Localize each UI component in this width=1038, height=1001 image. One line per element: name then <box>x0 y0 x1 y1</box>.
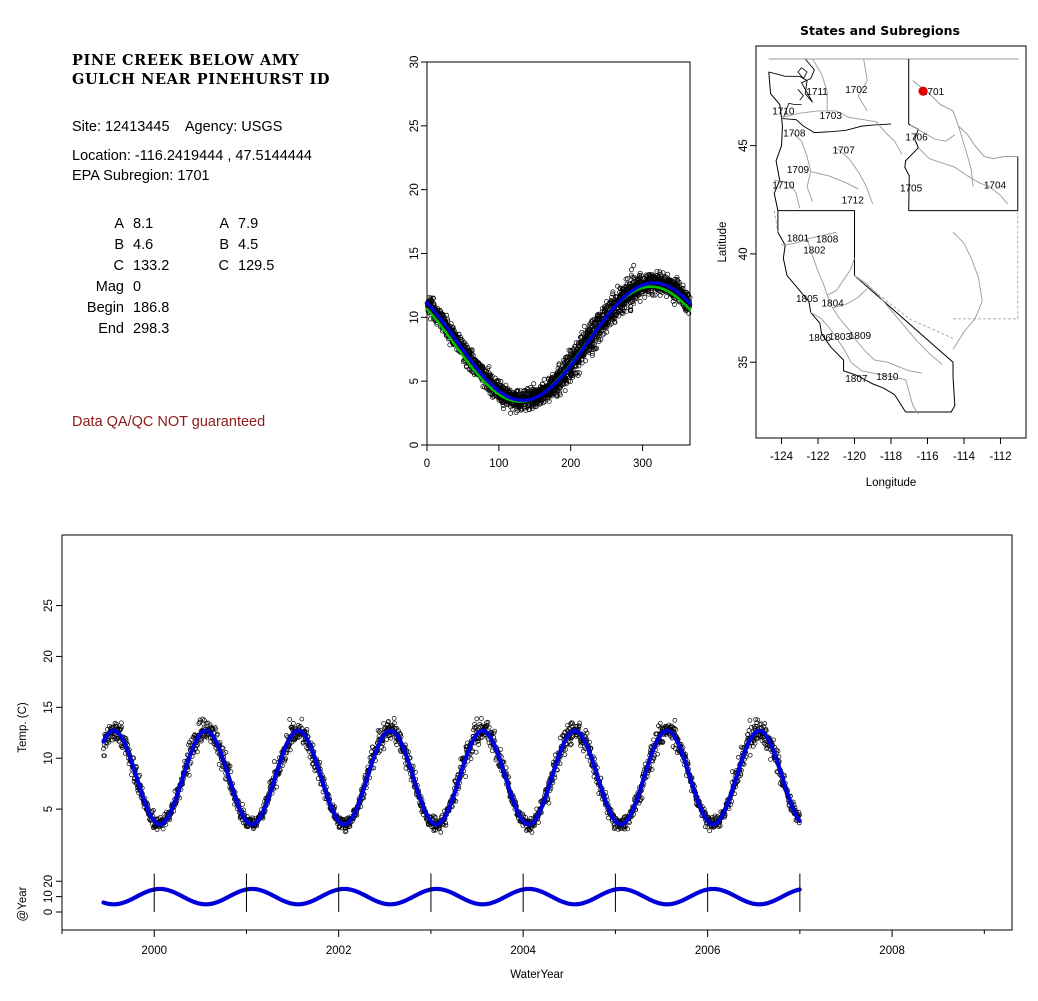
map-boundary-line <box>855 276 943 365</box>
map-subregion-label: 1705 <box>900 184 923 195</box>
param-label-b2: B <box>195 236 238 257</box>
map-subregion-label: 1804 <box>821 298 844 309</box>
ts-y-tick-label: 5 <box>43 806 55 812</box>
data-point <box>748 753 752 757</box>
data-point <box>632 263 636 267</box>
map-y-tick-label: 45 <box>738 139 750 152</box>
site-agency-line: Site: 12413445 Agency: USGS <box>72 118 282 136</box>
map-x-tick-label: -124 <box>770 451 794 463</box>
map-boundary-line <box>918 148 1007 204</box>
data-point <box>629 268 633 272</box>
param-label-end: End <box>62 320 133 341</box>
data-point <box>475 717 479 721</box>
map-boundary-line <box>876 122 902 154</box>
ts-x-tick-label: 2002 <box>326 945 352 957</box>
map-subregion-label: 1708 <box>783 128 806 139</box>
map-boundary-line <box>906 377 955 412</box>
param-value-c2: 129.5 <box>238 257 274 278</box>
map-boundary-line <box>811 172 858 189</box>
states-subregions-map-panel: States and Subregions -124-122-120-118-1… <box>720 10 1038 510</box>
ts-y-tick-label: 15 <box>43 701 55 714</box>
y-axis-tick-label: 10 <box>409 311 421 324</box>
param-value-b1: 4.6 <box>133 236 195 257</box>
map-subregion-label: 1802 <box>803 245 826 256</box>
param-value-a2: 7.9 <box>238 215 274 236</box>
data-point <box>474 750 478 754</box>
param-label-a1: A <box>62 215 133 236</box>
ts-y-tick-label: 25 <box>43 599 55 612</box>
y-axis-tick-label: 30 <box>409 56 421 69</box>
qa-warning-text: Data QA/QC NOT guaranteed <box>72 414 265 430</box>
x-axis-tick-label: 300 <box>633 458 652 470</box>
data-point <box>119 721 123 725</box>
data-point <box>300 717 304 721</box>
map-x-tick-label: -114 <box>953 451 976 463</box>
param-value-b2: 4.5 <box>238 236 274 257</box>
map-subregion-label: 1710 <box>772 107 795 118</box>
x-axis-tick-label: 200 <box>561 458 580 470</box>
map-subregion-label: 1712 <box>842 195 865 206</box>
ts-x-tick-label: 2006 <box>695 945 721 957</box>
data-point <box>563 753 567 757</box>
map-boundary-line <box>798 89 803 100</box>
param-value-begin: 186.8 <box>133 299 195 320</box>
y-axis-tick-label: 20 <box>409 183 421 196</box>
data-point <box>272 760 276 764</box>
map-boundary-line <box>909 59 910 125</box>
param-value-end: 298.3 <box>133 320 195 341</box>
data-point <box>382 721 386 725</box>
table-row: End 298.3 <box>62 320 274 341</box>
ts-x-axis-title: WaterYear <box>510 969 564 981</box>
data-point <box>569 742 573 746</box>
data-point <box>275 785 279 789</box>
data-point <box>673 718 677 722</box>
data-point <box>288 717 292 721</box>
table-row: Begin 186.8 <box>62 299 274 320</box>
map-x-tick-label: -118 <box>880 451 902 463</box>
table-row: C 133.2 C 129.5 <box>62 257 274 278</box>
data-point <box>625 277 629 281</box>
param-value-a1: 8.1 <box>133 215 195 236</box>
data-point <box>655 269 659 273</box>
ts-y-axis-title: Temp. (C) <box>17 702 29 753</box>
param-label-begin: Begin <box>62 299 133 320</box>
data-point <box>769 757 773 761</box>
table-row: Mag 0 <box>62 278 274 299</box>
map-x-tick-label: -116 <box>916 451 938 463</box>
data-point <box>439 830 443 834</box>
data-point <box>291 721 295 725</box>
data-point <box>708 829 712 833</box>
map-title: States and Subregions <box>800 23 960 38</box>
data-point <box>578 721 582 725</box>
map-x-tick-label: -120 <box>843 451 866 463</box>
inset-annual-cycle-line <box>104 889 800 904</box>
data-point <box>479 717 483 721</box>
map-boundary-line <box>953 232 982 349</box>
map-boundary-line <box>798 68 807 79</box>
map-boundary-line <box>827 258 854 295</box>
data-point <box>501 407 505 411</box>
param-label-a2: A <box>195 215 238 236</box>
map-x-tick-label: -122 <box>807 451 830 463</box>
map-boundary-line <box>855 276 954 339</box>
map-subregion-label: 1807 <box>845 374 868 385</box>
param-label-c2: C <box>195 257 238 278</box>
map-subregion-label: 1810 <box>876 372 899 383</box>
map-subregion-label: 1703 <box>820 111 843 122</box>
param-label-c1: C <box>62 257 133 278</box>
map-boundary-line <box>774 211 778 233</box>
table-row: A 8.1 A 7.9 <box>62 215 274 236</box>
site-location-marker <box>918 87 927 96</box>
data-point <box>582 324 586 328</box>
inset-y-tick-label: 10 <box>43 890 55 903</box>
map-subregion-label: 1711 <box>806 87 828 98</box>
data-point <box>643 295 647 299</box>
timeseries-plot-svg: 510152025Temp. (C)01020@Year200020022004… <box>0 520 1038 1001</box>
param-label-b1: B <box>62 236 133 257</box>
map-boundary-line <box>906 380 919 415</box>
map-boundary-line <box>813 59 828 111</box>
fit-parameters-table: A 8.1 A 7.9 B 4.6 B 4.5 C 133.2 C 129.5 … <box>62 215 274 341</box>
map-subregion-label: 1808 <box>816 234 839 245</box>
ts-fit-line <box>104 731 800 825</box>
inset-y-tick-label: 20 <box>43 875 55 888</box>
ts-data-points <box>102 716 802 834</box>
inset-y-tick-label: 0 <box>43 909 55 915</box>
seasonal-plot-svg: 0510152025300100200300 <box>385 40 705 480</box>
data-point <box>129 773 133 777</box>
map-subregion-label: 1707 <box>832 146 855 157</box>
map-y-tick-label: 40 <box>738 248 750 261</box>
data-point <box>102 747 106 751</box>
param-value-mag: 0 <box>133 278 195 299</box>
map-subregion-label: 1706 <box>905 133 928 144</box>
map-subregion-label: 1704 <box>984 180 1007 191</box>
data-point <box>288 748 292 752</box>
epa-subregion-line: EPA Subregion: 1701 <box>72 167 210 185</box>
seasonal-scatter-panel: 0510152025300100200300 <box>385 40 705 480</box>
x-axis-tick-label: 100 <box>489 458 508 470</box>
site-info-panel: PINE CREEK BELOW AMY GULCH NEAR PINEHURS… <box>0 0 390 470</box>
map-svg: -124-122-120-118-116-114-112354045Longit… <box>720 10 1038 510</box>
map-subregion-label: 1702 <box>845 85 868 96</box>
map-x-tick-label: -112 <box>989 451 1011 463</box>
data-point <box>563 389 567 393</box>
data-point <box>748 718 752 722</box>
map-y-tick-label: 35 <box>738 356 750 369</box>
map-y-axis-title: Latitude <box>717 222 729 263</box>
data-point <box>392 716 396 720</box>
data-point <box>464 775 468 779</box>
data-point <box>508 411 512 415</box>
param-value-c1: 133.2 <box>133 257 195 278</box>
data-point <box>220 767 224 771</box>
map-subregion-label: 1809 <box>849 331 872 342</box>
inset-y-axis-title: @Year <box>17 886 29 921</box>
ts-x-tick-label: 2004 <box>510 945 536 957</box>
ts-x-tick-label: 2008 <box>879 945 905 957</box>
ts-y-tick-label: 10 <box>43 752 55 765</box>
location-line: Location: -116.2419444 , 47.5144444 <box>72 147 312 165</box>
param-label-mag: Mag <box>62 278 133 299</box>
y-axis-tick-label: 25 <box>409 119 421 132</box>
y-axis-tick-label: 5 <box>409 378 421 384</box>
data-point <box>240 802 244 806</box>
data-point <box>542 377 546 381</box>
data-point <box>469 757 473 761</box>
y-axis-tick-label: 0 <box>409 442 421 448</box>
table-row: B 4.6 B 4.5 <box>62 236 274 257</box>
y-axis-tick-label: 15 <box>409 247 421 260</box>
ts-x-tick-label: 2000 <box>141 945 167 957</box>
map-subregion-label: 1805 <box>796 294 819 305</box>
page-title: PINE CREEK BELOW AMY GULCH NEAR PINEHURS… <box>72 51 372 89</box>
data-point <box>532 382 536 386</box>
map-x-axis-title: Longitude <box>866 477 917 489</box>
data-point <box>638 299 642 303</box>
data-point <box>385 738 389 742</box>
map-subregion-label: 1709 <box>787 165 810 176</box>
timeseries-panel: 510152025Temp. (C)01020@Year200020022004… <box>0 520 1038 1001</box>
ts-y-tick-label: 20 <box>43 650 55 663</box>
map-subregion-label: 1710 <box>772 180 795 191</box>
map-subregion-label: 1801 <box>787 233 810 244</box>
x-axis-tick-label: 0 <box>424 458 430 470</box>
data-point <box>665 295 669 299</box>
